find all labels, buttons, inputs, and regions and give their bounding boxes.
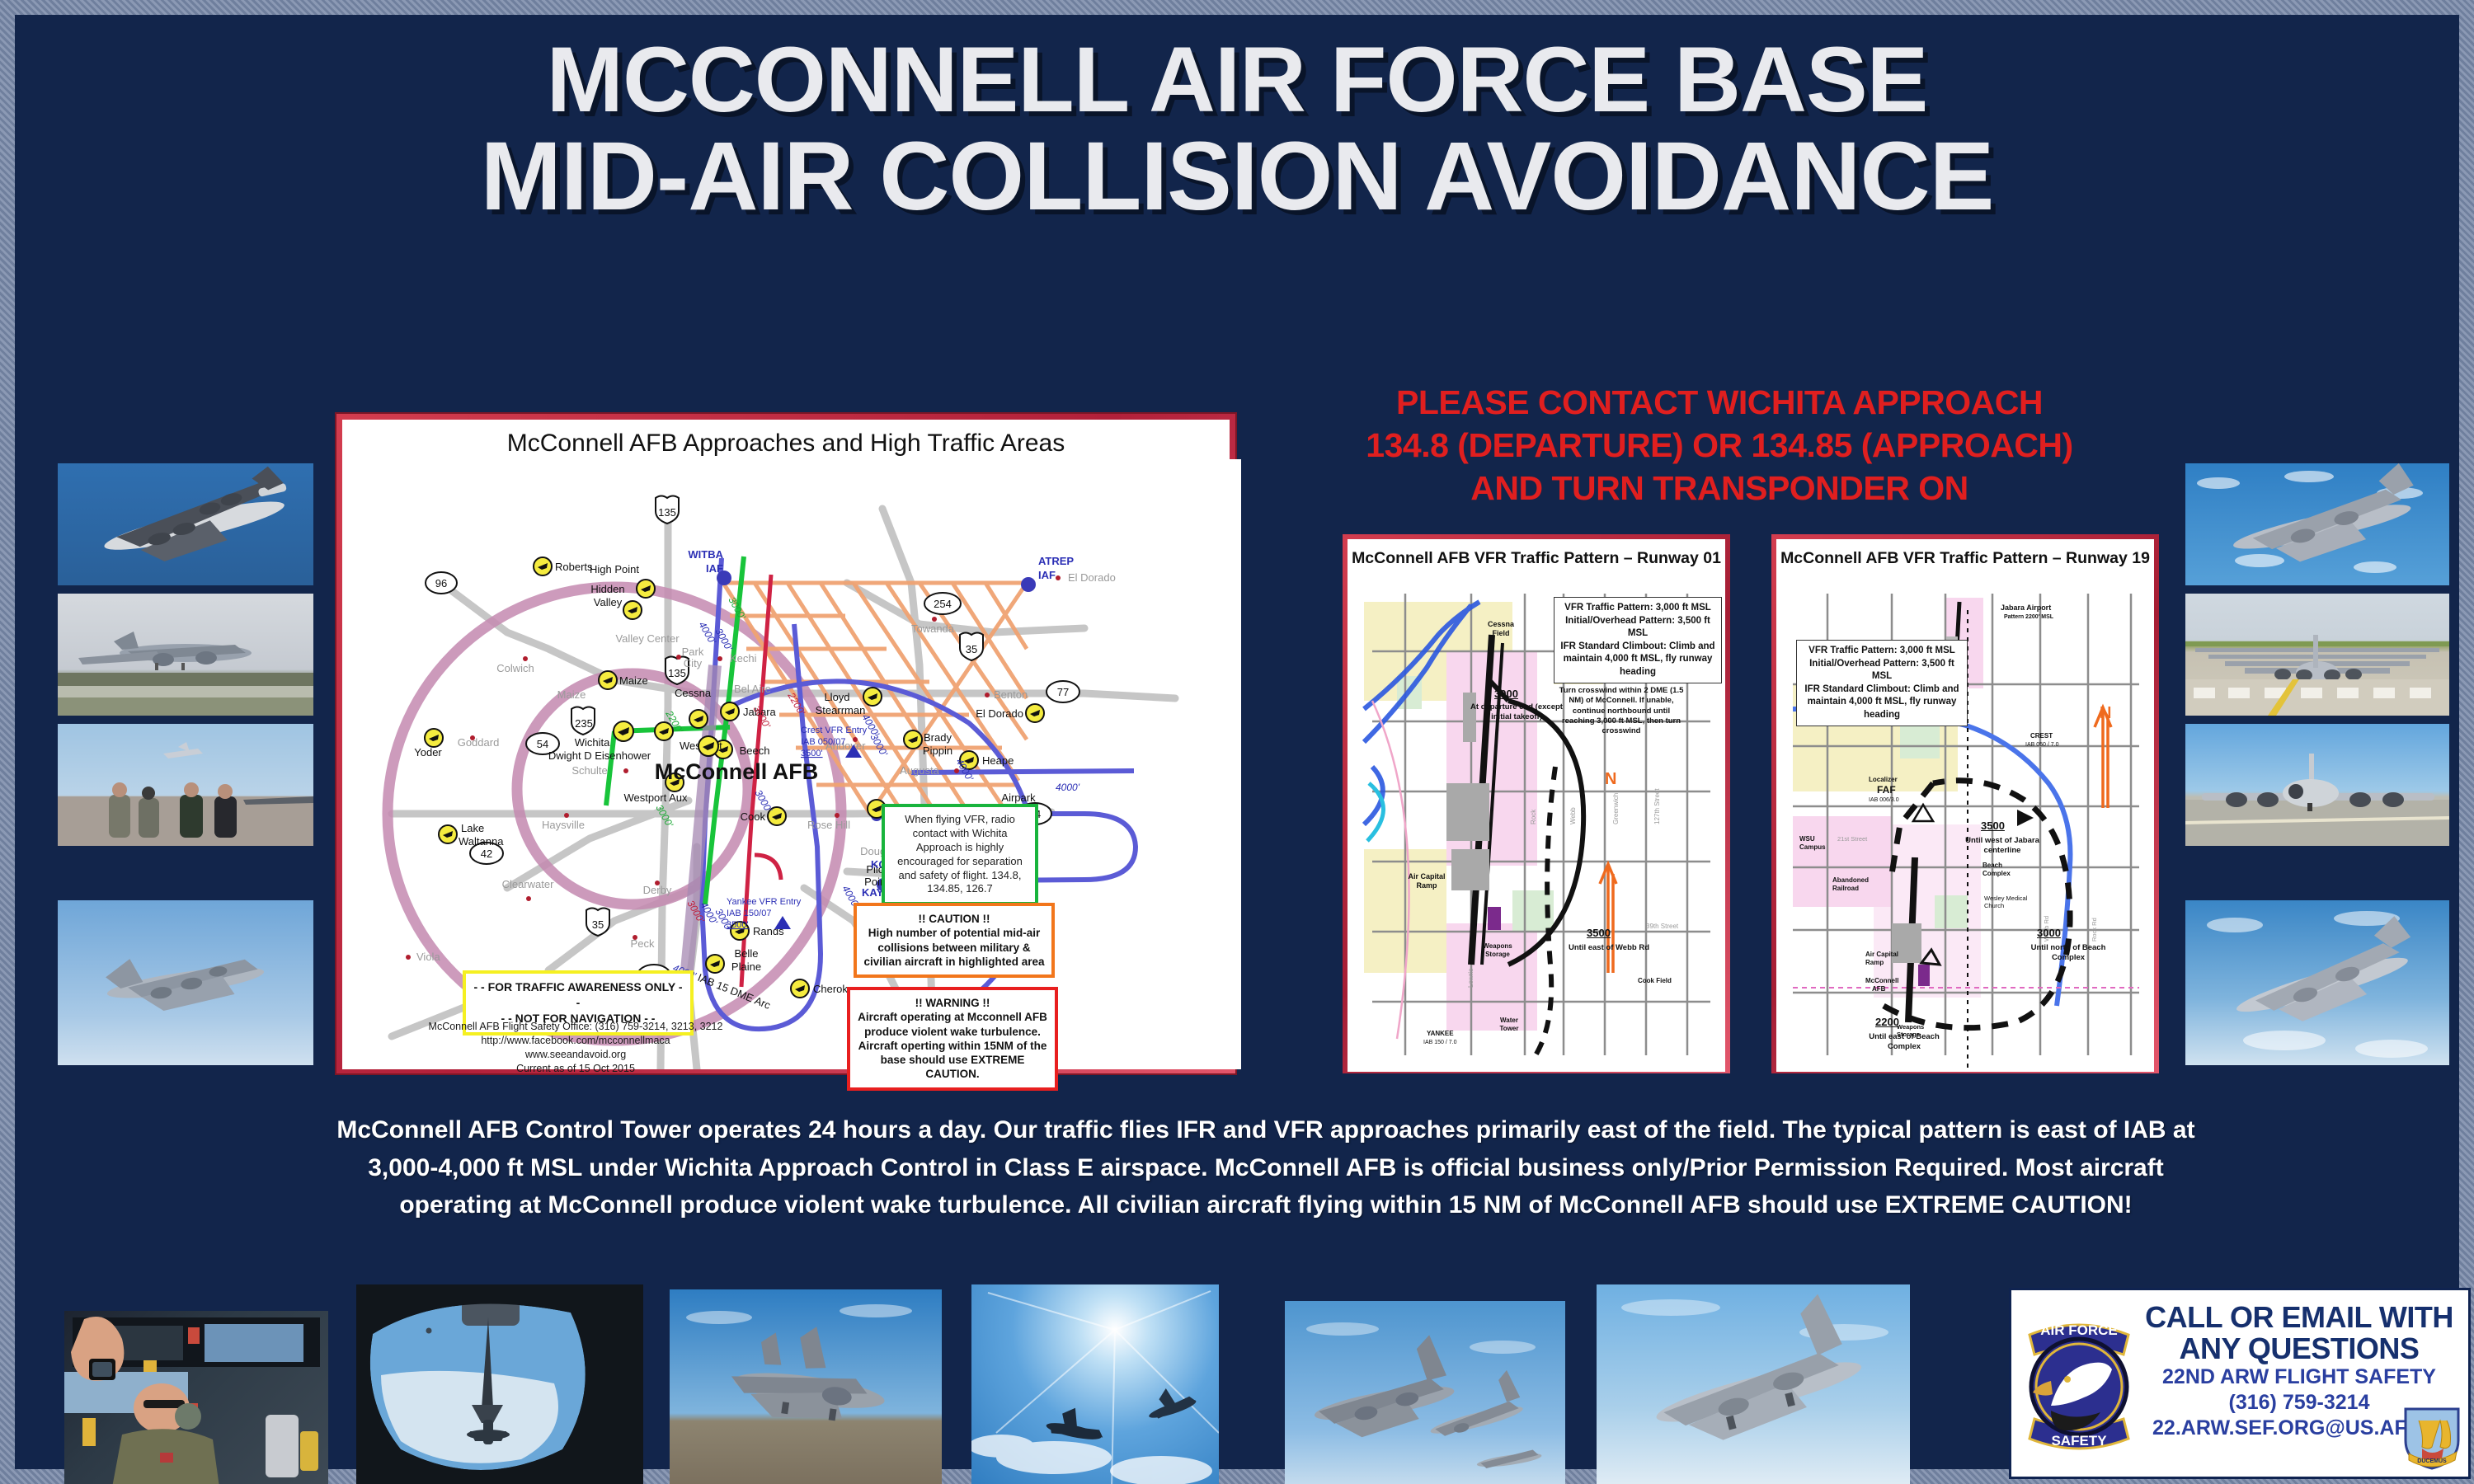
title-line-2: MID-AIR COLLISION AVOIDANCE (25, 127, 2449, 226)
photo-kc-46-over-clouds (2185, 900, 2449, 1065)
photo-fighters-sun-flare (971, 1284, 1219, 1484)
contact-approach-banner: PLEASE CONTACT WICHITA APPROACH 134.8 (D… (1212, 381, 2227, 510)
svg-text:Roberts: Roberts (555, 561, 593, 573)
svg-text:Brady: Brady (924, 731, 952, 744)
banner-line-1: PLEASE CONTACT WICHITA APPROACH (1212, 381, 2227, 424)
patch-bottom-label: SAFETY (2051, 1433, 2107, 1449)
svg-text:77: 77 (1057, 686, 1069, 698)
svg-text:Pippin: Pippin (923, 744, 952, 757)
vfr-19-alt-2200-note: Until east of Beach Complex (1859, 1032, 1950, 1053)
photo-kc-46-climbing (1597, 1284, 1910, 1484)
vfr-19-alt-2200: 2200 (1875, 1016, 1899, 1028)
map-note-warning: !! WARNING !! Aircraft operating at Mcco… (847, 987, 1058, 1091)
vfr-01-box-line-2: Initial/Overhead Pattern: 3,500 ft MSL (1560, 615, 1715, 641)
svg-text:Pattern 2200' MSL: Pattern 2200' MSL (2004, 614, 2054, 620)
svg-text:Crest VFR Entry: Crest VFR Entry (801, 726, 868, 735)
vfr-19-parameters: VFR Traffic Pattern: 3,000 ft MSL Initia… (1796, 640, 1968, 726)
svg-text:CREST: CREST (2030, 732, 2053, 740)
banner-line-2: 134.8 (DEPARTURE) OR 134.85 (APPROACH) (1212, 424, 2227, 467)
map-footer-website[interactable]: www.seeandavoid.org (398, 1048, 753, 1062)
photo-kc-46-takeoff (58, 594, 313, 716)
svg-text:135: 135 (658, 506, 676, 519)
awareness-line-1: - - FOR TRAFFIC AWARENESS ONLY - - (473, 979, 684, 1011)
shield-motto: DUCEMUS (2417, 1458, 2447, 1464)
vfr-19-alt-3000: 3000 (2037, 927, 2061, 939)
svg-text:Stearrman: Stearrman (816, 704, 866, 716)
photo-kc-135-banking-overhead (58, 463, 313, 585)
svg-text:96: 96 (435, 577, 447, 589)
svg-text:YANKEE: YANKEE (1427, 1030, 1454, 1037)
svg-text:Webb: Webb (1569, 807, 1577, 824)
svg-text:Weapons: Weapons (1897, 1023, 1924, 1031)
svg-text:Haysville: Haysville (542, 819, 585, 831)
map-footer-facebook[interactable]: http://www.facebook.com/mcconnellmaca (398, 1034, 753, 1048)
svg-text:Jabara Airport: Jabara Airport (2001, 603, 2051, 612)
contact-title: CALL OR EMAIL WITH ANY QUESTIONS (2135, 1290, 2463, 1364)
vfr-01-parameters: VFR Traffic Pattern: 3,000 ft MSL Initia… (1554, 597, 1722, 683)
svg-text:Church: Church (1984, 902, 2004, 909)
svg-text:Yankee VFR Entry: Yankee VFR Entry (727, 897, 802, 907)
warning-body: Aircraft operating at Mcconnell AFB prod… (857, 1010, 1048, 1081)
map-title: McConnell AFB Approaches and High Traffi… (342, 420, 1230, 458)
svg-text:Towanda: Towanda (911, 622, 955, 635)
summary-paragraph: McConnell AFB Control Tower operates 24 … (322, 1111, 2210, 1224)
svg-text:Beech: Beech (740, 744, 770, 757)
caution-title: !! CAUTION !! (863, 912, 1045, 926)
svg-text:Goddard: Goddard (458, 736, 500, 749)
svg-text:Wichita: Wichita (575, 736, 610, 749)
svg-text:Field: Field (1492, 629, 1509, 637)
map-footer-currency: Current as of 15 Oct 2015 (398, 1062, 753, 1076)
svg-text:Tower: Tower (1500, 1025, 1519, 1032)
svg-text:IAB 050/07: IAB 050/07 (801, 737, 845, 747)
svg-text:Air Capital: Air Capital (1408, 872, 1445, 881)
svg-text:High Point: High Point (590, 563, 639, 575)
svg-text:City: City (684, 657, 703, 669)
photo-airmen-watching-departure (58, 724, 313, 846)
vfr-01-alt-3000-note: At departure end (except initial takeoff… (1463, 702, 1570, 723)
svg-text:Rock Rd: Rock Rd (2091, 918, 2098, 942)
svg-text:Ramp: Ramp (1865, 959, 1884, 966)
caution-body: High number of potential mid-air collisi… (863, 926, 1045, 969)
svg-text:Weapons: Weapons (1483, 942, 1512, 950)
svg-text:IAB 150/07: IAB 150/07 (727, 909, 771, 918)
vfr-01-box-line-3: IFR Standard Climbout: Climb and (1560, 641, 1715, 654)
svg-text:Yoder: Yoder (414, 746, 442, 758)
svg-text:Belle: Belle (735, 947, 759, 960)
svg-text:39th Street: 39th Street (1646, 923, 1679, 930)
photo-kc-46-in-flight (2185, 463, 2449, 585)
svg-text:IAF: IAF (1038, 569, 1056, 581)
contact-card[interactable]: AIR FORCE SAFETY CALL OR EMAIL WITH ANY … (2009, 1288, 2471, 1479)
air-force-safety-patch-icon: AIR FORCE SAFETY (2023, 1307, 2135, 1467)
svg-text:Park: Park (682, 646, 704, 658)
svg-text:254: 254 (934, 598, 952, 610)
svg-text:54: 54 (537, 738, 548, 750)
vfr-01-crosswind-note: Turn crosswind within 2 DME (1.5 NM) of … (1555, 686, 1687, 737)
vfr-19-box-line-3: IFR Standard Climbout: Climb and (1803, 683, 1961, 697)
vfr-19-alt-3500: 3500 (1981, 819, 2005, 832)
vfr-19-title: McConnell AFB VFR Traffic Pattern – Runw… (1776, 539, 2154, 573)
svg-text:Kechi: Kechi (730, 652, 757, 665)
svg-text:IAB 050 / 7.0: IAB 050 / 7.0 (2025, 742, 2059, 748)
vfr-19-north-indicator: N (2100, 704, 2111, 723)
poster-headline: MCCONNELL AIR FORCE BASE MID-AIR COLLISI… (25, 33, 2449, 227)
svg-text:127th Street: 127th Street (1653, 788, 1661, 824)
svg-text:Schulte: Schulte (571, 764, 607, 777)
svg-text:Airpark: Airpark (1001, 791, 1036, 804)
svg-text:Cook: Cook (741, 810, 766, 823)
svg-text:Dwight D Eisenhower: Dwight D Eisenhower (548, 749, 651, 762)
svg-text:Valley Center: Valley Center (615, 632, 680, 645)
contact-title-line-2: ANY QUESTIONS (2135, 1333, 2463, 1364)
svg-text:Hidden: Hidden (590, 583, 624, 595)
patch-top-label: AIR FORCE (2040, 1322, 2118, 1338)
svg-text:WITBA: WITBA (688, 548, 723, 561)
photo-boom-operator-cockpit (64, 1311, 328, 1484)
svg-text:Lloyd: Lloyd (824, 691, 849, 703)
svg-text:Valley: Valley (594, 596, 623, 608)
vfr-01-box-line-1: VFR Traffic Pattern: 3,000 ft MSL (1560, 602, 1715, 615)
svg-text:Water: Water (1500, 1017, 1518, 1024)
vfr-01-alt-3500: 3500 (1587, 927, 1611, 939)
vfr-01-title: McConnell AFB VFR Traffic Pattern – Runw… (1348, 539, 1725, 573)
svg-text:Maize: Maize (619, 674, 648, 687)
svg-text:3500': 3500' (801, 749, 823, 758)
svg-text:El Dorado: El Dorado (976, 707, 1023, 720)
svg-text:Lake: Lake (461, 822, 484, 834)
svg-text:FAF: FAF (1877, 784, 1896, 796)
vfr-19-alt-3000-note: Until north of Beach Complex (2024, 943, 2113, 964)
map-note-vfr-radio: When flying VFR, radio contact with Wich… (882, 804, 1038, 905)
svg-text:AFB: AFB (1872, 985, 1886, 993)
svg-text:Beach: Beach (1982, 862, 2002, 869)
photo-tanker-climbing (58, 900, 313, 1065)
svg-text:Cook Field: Cook Field (1638, 977, 1672, 984)
vfr-19-box-line-1: VFR Traffic Pattern: 3,000 ft MSL (1803, 645, 1961, 658)
svg-text:Benton: Benton (994, 688, 1028, 701)
approaches-map-card[interactable]: McConnell AFB Approaches and High Traffi… (336, 414, 1235, 1073)
svg-text:35: 35 (592, 918, 604, 931)
svg-text:McConnell AFB: McConnell AFB (655, 759, 819, 784)
vfr-pattern-runway-19-card[interactable]: McConnell AFB VFR Traffic Pattern – Runw… (1771, 534, 2159, 1073)
svg-text:McConnell: McConnell (1865, 977, 1898, 984)
svg-text:Greenwich: Greenwich (1612, 793, 1620, 824)
svg-text:Complex: Complex (1982, 870, 2011, 877)
svg-text:Campus: Campus (1799, 843, 1826, 851)
vfr-01-alt-3500-note: Until east of Webb Rd (1564, 943, 1654, 953)
svg-text:IAB 006/3.0: IAB 006/3.0 (1869, 797, 1899, 803)
svg-text:ATREP: ATREP (1038, 555, 1074, 567)
warning-title: !! WARNING !! (857, 996, 1048, 1010)
contact-org: 22ND ARW FLIGHT SAFETY (2135, 1364, 2463, 1390)
svg-text:Westport Aux: Westport Aux (623, 791, 688, 804)
svg-text:Waltanna: Waltanna (459, 835, 504, 848)
svg-text:IAF: IAF (706, 562, 723, 575)
svg-text:Heape: Heape (982, 754, 1014, 767)
photo-formation-flight (1285, 1301, 1565, 1484)
svg-text:Clearwater: Clearwater (502, 878, 555, 890)
vfr-01-alt-3000: 3000 (1494, 688, 1518, 700)
svg-text:Plaine: Plaine (731, 960, 761, 973)
svg-text:Abandoned: Abandoned (1832, 876, 1869, 884)
contact-title-line-1: CALL OR EMAIL WITH (2135, 1302, 2463, 1333)
svg-text:Storage: Storage (1485, 951, 1510, 958)
svg-text:Wesley Medical: Wesley Medical (1984, 895, 2028, 902)
air-force-shield-icon: DUCEMUS (2401, 1402, 2463, 1472)
svg-text:Cessna: Cessna (675, 687, 712, 699)
svg-text:Rock: Rock (1530, 809, 1537, 824)
vfr-01-box-line-4: maintain 4,000 ft MSL, fly runway headin… (1560, 653, 1715, 679)
photo-tanker-row-on-ramp (2185, 594, 2449, 716)
svg-text:Augusta: Augusta (900, 764, 939, 777)
map-footer: McConnell AFB Flight Safety Office: (316… (398, 1020, 753, 1076)
map-footer-phone: McConnell AFB Flight Safety Office: (316… (398, 1020, 753, 1034)
svg-text:IAB 150 / 7.0: IAB 150 / 7.0 (1423, 1040, 1457, 1045)
photo-kc-135-on-taxiway (2185, 724, 2449, 846)
svg-text:21st Street: 21st Street (1837, 835, 1868, 843)
photo-kc-46-over-terrain (670, 1289, 942, 1484)
svg-text:Lowrie: Lowrie (1467, 968, 1475, 988)
svg-text:35: 35 (966, 643, 977, 655)
banner-line-3: AND TURN TRANSPONDER ON (1212, 467, 2227, 510)
vfr-19-box-line-2: Initial/Overhead Pattern: 3,500 ft MSL (1803, 658, 1961, 683)
vfr-01-north-indicator: N (1605, 770, 1616, 789)
svg-text:Air Capital: Air Capital (1865, 951, 1898, 958)
svg-text:Rose Hill: Rose Hill (807, 819, 850, 831)
svg-text:Derby: Derby (643, 884, 672, 896)
svg-text:4000': 4000' (1056, 782, 1080, 793)
svg-text:Maize: Maize (557, 688, 586, 701)
poster-inner: MCCONNELL AIR FORCE BASE MID-AIR COLLISI… (25, 25, 2449, 1459)
svg-text:Bel Aire: Bel Aire (734, 683, 771, 695)
svg-text:42: 42 (481, 848, 492, 860)
map-note-caution: !! CAUTION !! High number of potential m… (854, 903, 1055, 978)
svg-text:Railroad: Railroad (1832, 885, 1859, 892)
vfr-19-box-line-4: maintain 4,000 ft MSL, fly runway headin… (1803, 696, 1961, 721)
vfr-pattern-runway-01-card[interactable]: McConnell AFB VFR Traffic Pattern – Runw… (1343, 534, 1730, 1073)
svg-text:Ramp: Ramp (1416, 881, 1437, 890)
svg-text:WSU: WSU (1799, 835, 1815, 843)
title-line-1: MCCONNELL AIR FORCE BASE (25, 33, 2449, 127)
vfr-19-alt-3500-note: Until west of Jabara centerline (1954, 836, 2050, 857)
photo-boom-refueling-view (356, 1284, 643, 1484)
svg-text:3500': 3500' (727, 920, 749, 930)
svg-text:Cessna: Cessna (1488, 620, 1515, 628)
svg-text:El Dorado: El Dorado (1068, 571, 1116, 584)
svg-text:Localizer: Localizer (1869, 776, 1898, 783)
poster-frame: MCCONNELL AIR FORCE BASE MID-AIR COLLISI… (0, 0, 2474, 1484)
svg-text:235: 235 (575, 717, 593, 730)
svg-text:Colwich: Colwich (496, 662, 534, 674)
svg-text:Viola: Viola (416, 951, 440, 963)
